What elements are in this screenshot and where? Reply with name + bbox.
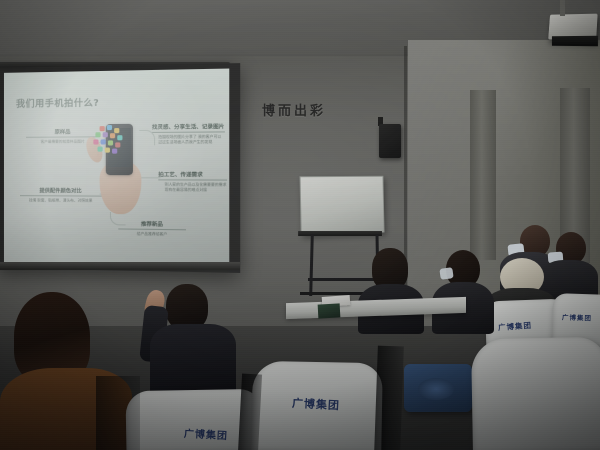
slide-node-heading: 推荐新品 <box>118 220 186 230</box>
whiteboard-crossbar <box>308 278 378 281</box>
projector-base <box>552 36 598 46</box>
slide-title: 我们用手机拍什么? <box>16 96 99 110</box>
green-notebook <box>318 303 341 318</box>
screen-surface: 我们用手机拍什么? 原样品 客户最需要的就是样品图片 提供配件颜色对比 挂绳 胶… <box>4 69 229 268</box>
wall-speaker <box>379 124 401 158</box>
chair-gap-shadow <box>238 374 262 450</box>
chair-blue-seat-detail <box>418 378 454 400</box>
flipchart-whiteboard[interactable] <box>300 176 385 236</box>
slide-node-body: 拍摄现场的图片分享了 我的客户可以过过生活场面人员我产生的发现 <box>158 135 225 147</box>
slide-node-body: 给产品推荐给客户 <box>120 232 183 238</box>
slide-node-bottom: 推荐新品 给产品推荐给客户 <box>118 220 186 238</box>
phone-graphic <box>91 120 152 215</box>
chair-cover-brand-1: 广博集团 <box>498 320 533 333</box>
chair-cover-brand-4: 广博集团 <box>292 395 341 413</box>
slide-node-heading: 提供配件颜色对比 <box>20 187 102 197</box>
slide-node-heading: 拍工艺、传递需求 <box>158 171 227 180</box>
wall-pillar-left <box>470 90 496 260</box>
slide-content: 我们用手机拍什么? 原样品 客户最需要的就是样品图片 提供配件颜色对比 挂绳 胶… <box>4 69 229 268</box>
slide-node-left-bottom: 提供配件颜色对比 挂绳 胶套、贴纸带、清头布、对照效果 <box>20 187 102 204</box>
floor-shadow-left <box>96 376 140 450</box>
screen-bottom-weight-bar <box>0 262 240 270</box>
projection-screen[interactable]: 我们用手机拍什么? 原样品 客户最需要的就是样品图片 提供配件颜色对比 挂绳 胶… <box>0 63 240 273</box>
projector-mount <box>560 0 565 16</box>
slide-node-body: 别人家的生产品以及化需要要的需求 现有在最容易的难点对接 <box>165 182 227 193</box>
wall-sign-text: 博而出彩 <box>262 100 326 119</box>
slide-node-right-mid: 拍工艺、传递需求 别人家的生产品以及化需要要的需求 现有在最容易的难点对接 <box>158 171 227 194</box>
conference-room-scene: 我们用手机拍什么? 原样品 客户最需要的就是样品图片 提供配件颜色对比 挂绳 胶… <box>0 0 600 450</box>
slide-node-body: 挂绳 胶套、贴纸带、清头布、对照效果 <box>23 198 99 204</box>
chair-cover-brand-3: 广博集团 <box>184 425 229 442</box>
chair-cover-5 <box>471 337 600 450</box>
app-icons-cluster <box>85 124 122 155</box>
chair-gap-shadow-2 <box>374 346 404 450</box>
slide-node-right-top: 找灵感、分享生活、记录图片 拍摄现场的图片分享了 我的客户可以过过生活场面人员我… <box>152 123 225 146</box>
torso-suit <box>150 324 236 394</box>
chair-cover-brand-2: 广博集团 <box>562 311 592 322</box>
slide-node-heading: 找灵感、分享生活、记录图片 <box>152 123 225 133</box>
face-mask <box>439 267 453 280</box>
